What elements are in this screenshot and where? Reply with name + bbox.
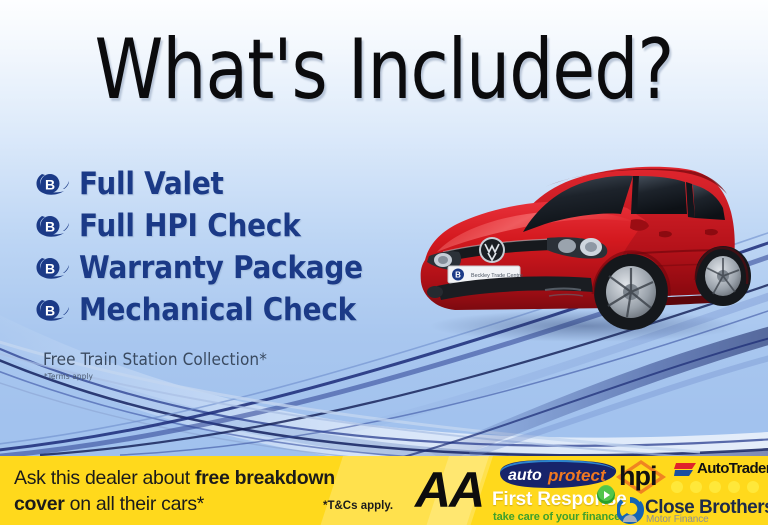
svg-text:B: B bbox=[45, 261, 55, 277]
beckley-b-logo-icon: B bbox=[36, 297, 70, 323]
banner-message-part1: Ask this dealer about bbox=[14, 467, 195, 489]
offer-line: Free Train Station Collection* bbox=[43, 350, 267, 370]
svg-text:B: B bbox=[45, 303, 55, 319]
advert-canvas: What's Included? B Full Valet B bbox=[0, 0, 768, 525]
svg-text:B: B bbox=[45, 219, 55, 235]
aa-logo: AA bbox=[415, 462, 483, 518]
close-brothers-subtitle: Motor Finance bbox=[646, 514, 709, 525]
beckley-b-logo-icon: B bbox=[36, 213, 70, 239]
banner-message-bold1: free breakdown bbox=[195, 467, 335, 489]
first-response-tagline: take care of your finance bbox=[493, 511, 620, 523]
list-item-label: Full HPI Check bbox=[79, 208, 301, 244]
autotrader-label: AutoTrader bbox=[697, 460, 768, 477]
list-item-label: Mechanical Check bbox=[79, 292, 356, 328]
list-item: B Warranty Package bbox=[36, 247, 363, 289]
svg-text:B: B bbox=[455, 271, 461, 280]
list-item: B Full HPI Check bbox=[36, 205, 363, 247]
vehicle-image-red-volkswagen-polo: B Beckley Trade Centre bbox=[395, 140, 768, 345]
hpi-label: hpi bbox=[619, 463, 657, 490]
list-item: B Mechanical Check bbox=[36, 289, 363, 331]
green-play-icon bbox=[596, 485, 616, 505]
svg-text:auto: auto bbox=[508, 467, 542, 484]
banner-message-bold2: cover bbox=[14, 493, 65, 515]
feature-list: B Full Valet B Full HPI Check bbox=[36, 163, 363, 331]
list-item: B Full Valet bbox=[36, 163, 363, 205]
terms-note: *Terms apply bbox=[44, 372, 93, 381]
svg-text:protect: protect bbox=[547, 466, 607, 485]
page-title: What's Included? bbox=[27, 26, 741, 114]
list-item-label: Full Valet bbox=[79, 166, 224, 202]
aa-breakdown-banner: Ask this dealer about free breakdown cov… bbox=[0, 456, 768, 525]
autotrader-rating-stars bbox=[667, 480, 767, 494]
banner-message-part2: on all their cars* bbox=[65, 493, 205, 515]
beckley-b-logo-icon: B bbox=[36, 171, 70, 197]
banner-tcs-note: *T&Cs apply. bbox=[323, 500, 393, 512]
beckley-b-logo-icon: B bbox=[36, 255, 70, 281]
svg-text:B: B bbox=[45, 177, 55, 193]
list-item-label: Warranty Package bbox=[79, 250, 363, 286]
